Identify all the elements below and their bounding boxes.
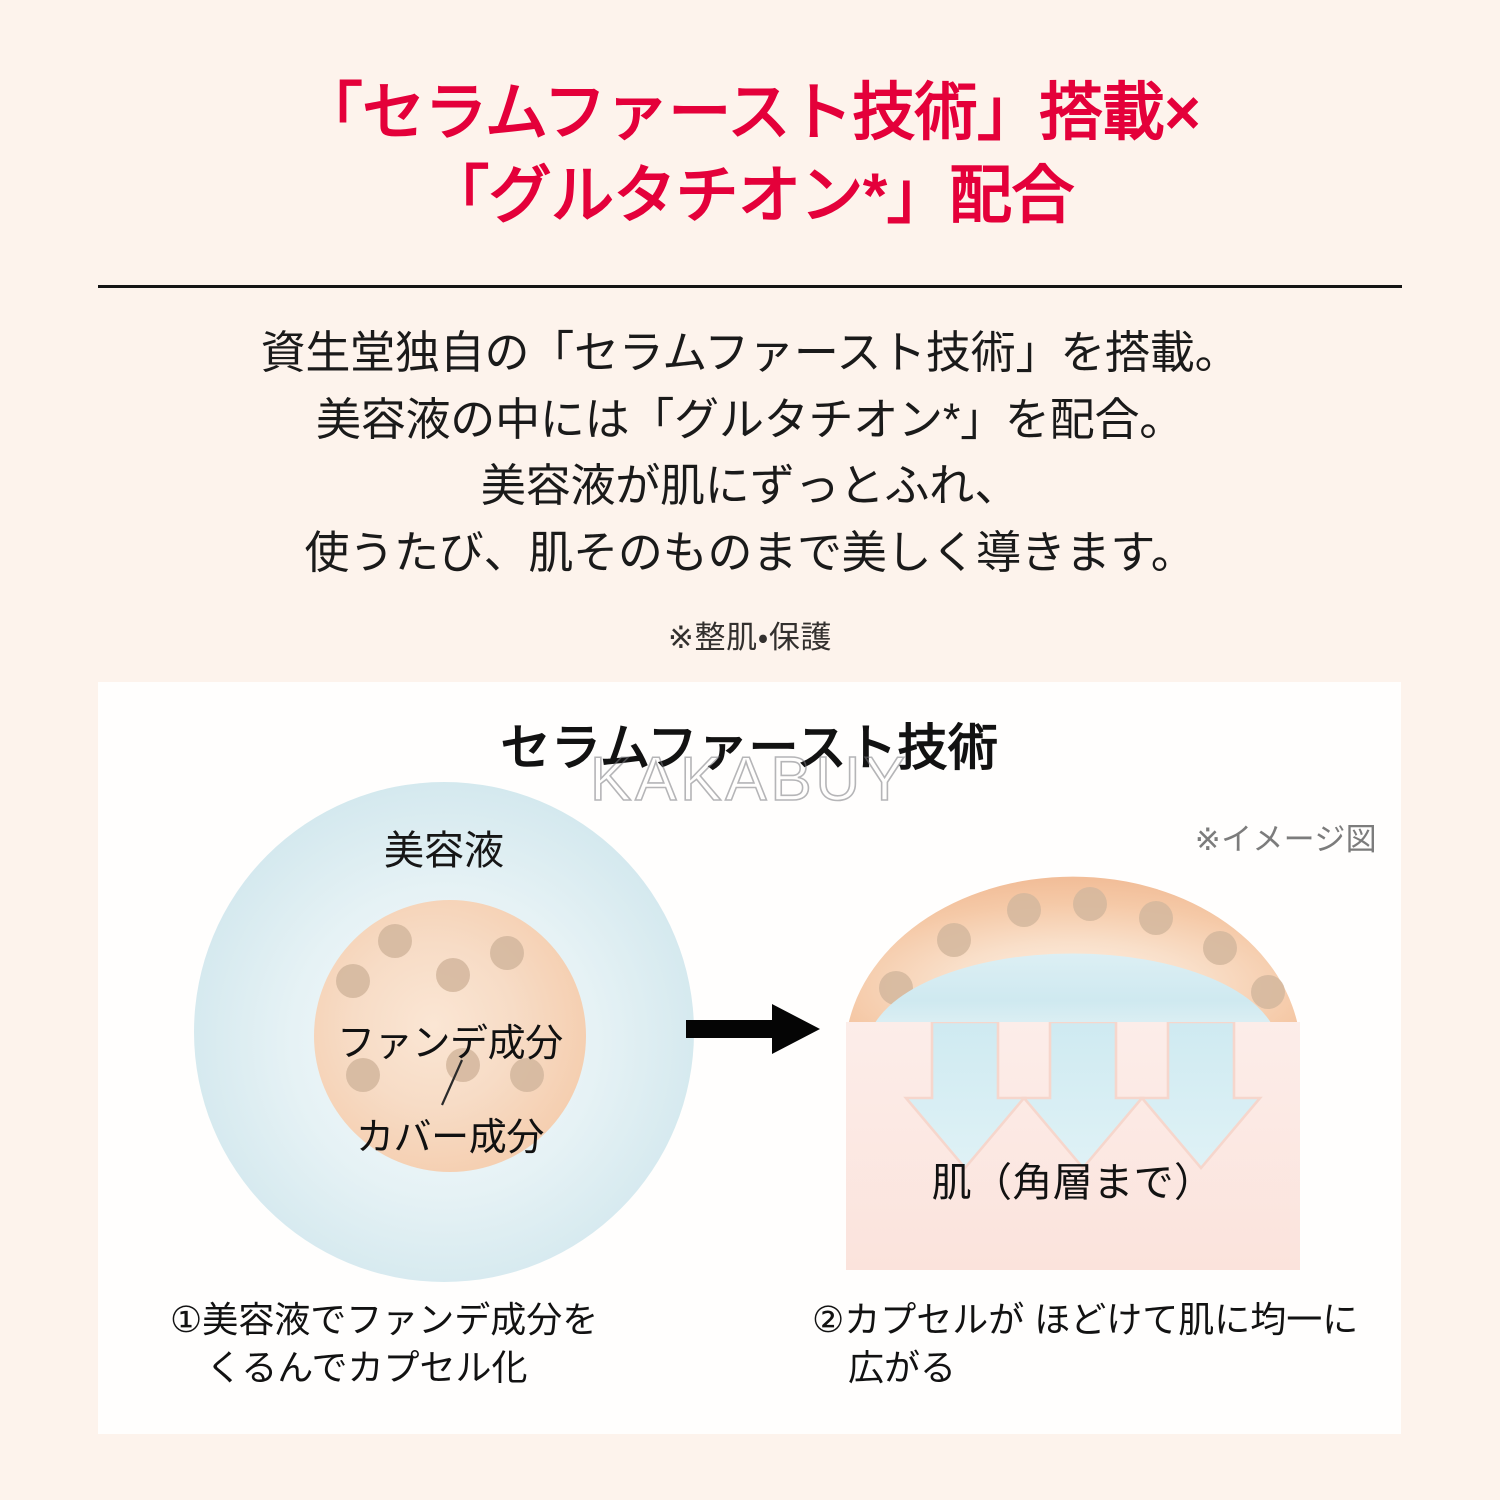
infographic-page: 「セラムファースト技術」搭載× 「グルタチオン*」配合 資生堂独自の「セラムファ… (0, 0, 1500, 1500)
page-title: 「セラムファースト技術」搭載× 「グルタチオン*」配合 (0, 72, 1500, 238)
caption-2-line-2: 広がる (812, 1344, 1401, 1392)
footnote: ※整肌・保護 (0, 612, 1500, 657)
foundation-label: ファンデ成分 (314, 1012, 586, 1067)
skin-label: 肌（角層まで） (828, 1150, 1318, 1208)
lead-line-3: 美容液が肌にずっとふれ、 (0, 453, 1500, 520)
flow-arrow-icon (686, 1000, 821, 1058)
lead-paragraph: 資生堂独自の「セラムファースト技術」を搭載。 美容液の中には「グルタチオン*」を… (0, 320, 1500, 586)
skin-spread-illustration (828, 800, 1318, 1300)
right-diagram: 肌（角層まで） (828, 800, 1318, 1300)
caption-step-1: ①美容液でファンデ成分を くるんでカプセル化 (170, 1296, 730, 1392)
title-line-2: 「グルタチオン*」配合 (0, 155, 1500, 238)
cover-label: カバー成分 (314, 1106, 586, 1161)
title-line-1: 「セラムファースト技術」搭載× (0, 72, 1500, 155)
caption-step-2: ②カプセルが ほどけて肌に均一に 広がる (812, 1296, 1401, 1392)
serum-label: 美容液 (194, 818, 694, 876)
panel-heading: セラムファースト技術 (98, 708, 1401, 780)
diagram-panel: セラムファースト技術 KAKABUY ※イメージ図 美容液 ファンデ成分 カバー… (98, 682, 1401, 1434)
caption-2-line-1: ②カプセルが ほどけて肌に均一に (812, 1296, 1401, 1344)
lead-line-1: 資生堂独自の「セラムファースト技術」を搭載。 (0, 320, 1500, 387)
caption-1-line-2: くるんでカプセル化 (170, 1344, 730, 1392)
caption-1-line-1: ①美容液でファンデ成分を (170, 1296, 730, 1344)
lead-line-4: 使うたび、肌そのものまで美しく導きます。 (0, 520, 1500, 587)
title-divider (98, 285, 1402, 288)
left-diagram: 美容液 ファンデ成分 カバー成分 (194, 782, 694, 1282)
lead-line-2: 美容液の中には「グルタチオン*」を配合。 (0, 387, 1500, 454)
foundation-circle: ファンデ成分 カバー成分 (314, 900, 586, 1172)
